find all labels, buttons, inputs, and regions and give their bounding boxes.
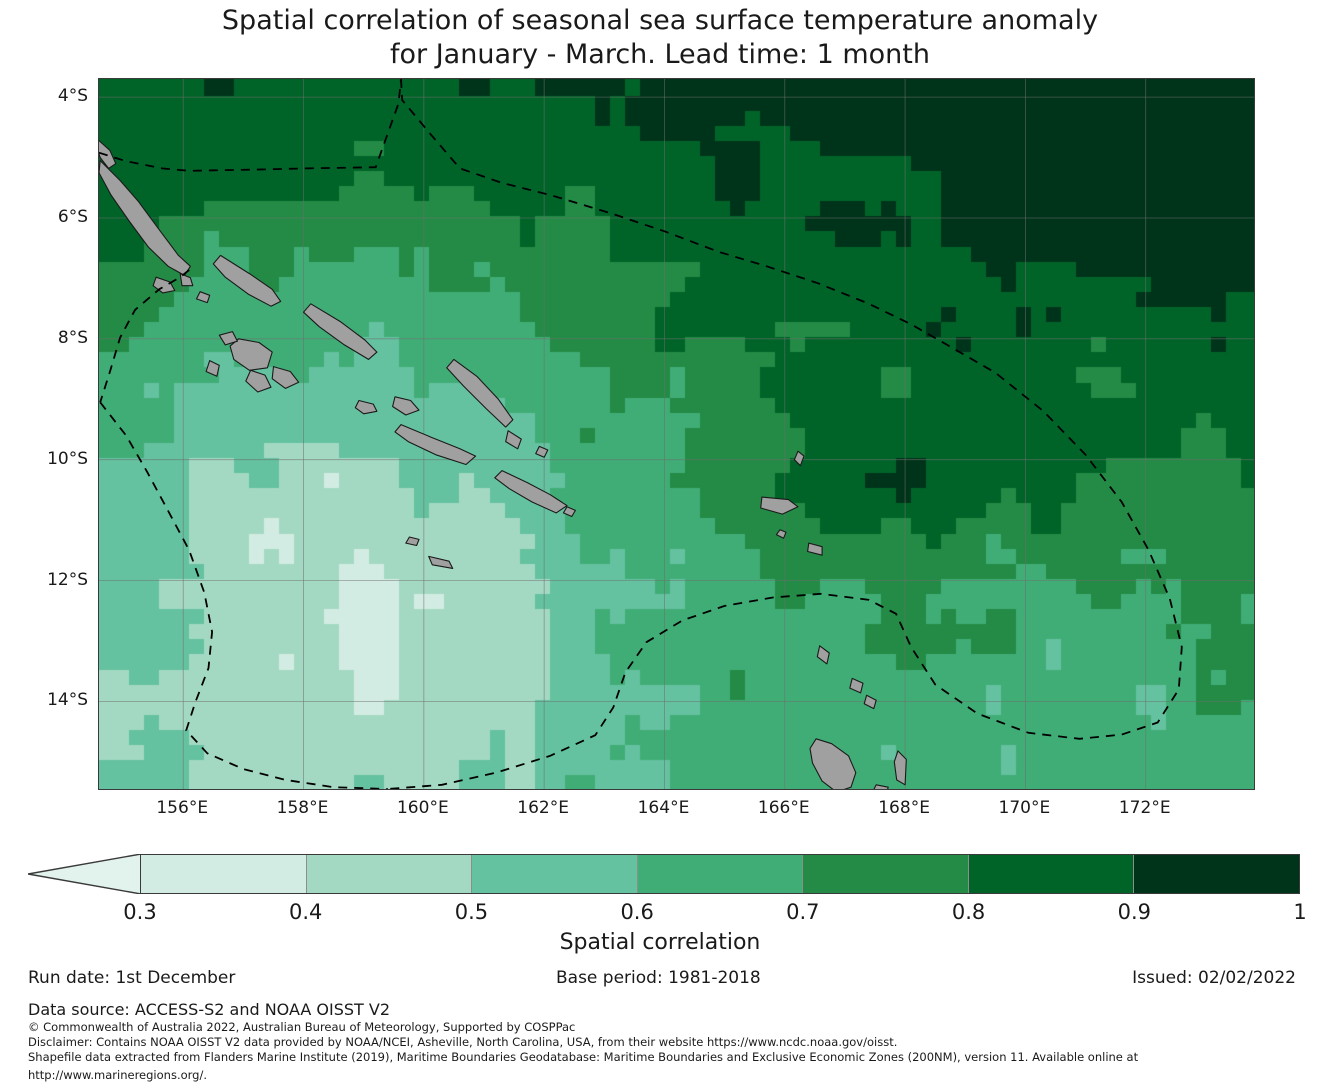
eez-segment-0 bbox=[99, 79, 401, 171]
eez-segment-3 bbox=[100, 402, 388, 789]
colorbar-tick-5: 0.8 bbox=[952, 900, 985, 924]
footer-copyright: © Commonwealth of Australia 2022, Austra… bbox=[28, 1020, 1308, 1035]
land-polygon-16 bbox=[395, 425, 476, 465]
footer-disclaimer: Disclaimer: Contains NOAA OISST V2 data … bbox=[28, 1035, 1308, 1050]
land-polygon-27 bbox=[850, 678, 863, 693]
eez-boundary-line bbox=[99, 79, 1182, 789]
colorbar-tick-7: 1 bbox=[1293, 900, 1306, 924]
land-polygon-18 bbox=[429, 556, 453, 568]
colorbar: 0.30.40.50.60.70.80.91 Spatial correlati… bbox=[0, 846, 1320, 956]
land-polygon-12 bbox=[355, 401, 377, 414]
land-polygon-29 bbox=[810, 739, 856, 789]
map-gridlines bbox=[99, 79, 1254, 789]
map-plot-area bbox=[98, 78, 1255, 790]
land-polygon-10 bbox=[206, 361, 219, 377]
lon-tick-2: 160°E bbox=[397, 798, 449, 818]
colorbar-band-5 bbox=[969, 855, 1135, 893]
footer-shapefile: Shapefile data extracted from Flanders M… bbox=[28, 1050, 1308, 1065]
colorbar-tick-2: 0.5 bbox=[455, 900, 488, 924]
lat-tick-5: 14°S bbox=[47, 690, 88, 710]
lon-tick-7: 170°E bbox=[999, 798, 1051, 818]
land-polygon-34 bbox=[873, 785, 889, 789]
colorbar-tick-1: 0.4 bbox=[289, 900, 322, 924]
colorbar-tick-3: 0.6 bbox=[620, 900, 653, 924]
metadata-row: Run date: 1st December Base period: 1981… bbox=[0, 968, 1320, 994]
land-polygon-6 bbox=[230, 339, 272, 371]
land-polygon-11 bbox=[304, 304, 377, 360]
colorbar-band-0 bbox=[141, 855, 307, 893]
colorbar-band-3 bbox=[638, 855, 804, 893]
land-polygon-26 bbox=[817, 646, 829, 664]
land-polygon-19 bbox=[406, 537, 419, 546]
page-title: Spatial correlation of seasonal sea surf… bbox=[0, 4, 1320, 72]
colorbar-bands bbox=[140, 854, 1300, 894]
land-polygon-22 bbox=[761, 497, 798, 514]
land-polygon-8 bbox=[272, 367, 299, 389]
colorbar-tick-0: 0.3 bbox=[123, 900, 156, 924]
land-polygon-25 bbox=[794, 451, 804, 466]
land-polygon-17 bbox=[495, 471, 567, 513]
land-polygon-20 bbox=[536, 446, 548, 457]
lat-tick-4: 12°S bbox=[47, 570, 88, 590]
land-polygon-28 bbox=[864, 695, 876, 708]
colorbar-band-6 bbox=[1134, 855, 1299, 893]
base-period: Base period: 1981-2018 bbox=[556, 968, 761, 988]
colorbar-label: Spatial correlation bbox=[0, 930, 1320, 955]
colorbar-band-2 bbox=[472, 855, 638, 893]
title-line-1: Spatial correlation of seasonal sea surf… bbox=[0, 4, 1320, 38]
lat-tick-2: 8°S bbox=[58, 328, 88, 348]
lon-tick-1: 158°E bbox=[277, 798, 329, 818]
footer-link: http://www.marineregions.org/. bbox=[28, 1065, 1308, 1083]
land-polygon-14 bbox=[447, 359, 513, 427]
title-line-2: for January - March. Lead time: 1 month bbox=[0, 38, 1320, 72]
lon-tick-8: 172°E bbox=[1119, 798, 1171, 818]
colorbar-tick-6: 0.9 bbox=[1118, 900, 1151, 924]
colorbar-band-4 bbox=[803, 855, 969, 893]
lon-tick-6: 168°E bbox=[878, 798, 930, 818]
lon-tick-0: 156°E bbox=[156, 798, 208, 818]
lon-tick-4: 164°E bbox=[638, 798, 690, 818]
land-polygon-13 bbox=[393, 397, 419, 415]
land-polygon-21 bbox=[563, 507, 575, 517]
lon-tick-5: 166°E bbox=[758, 798, 810, 818]
land-polygon-5 bbox=[213, 255, 280, 306]
colorbar-tick-4: 0.7 bbox=[786, 900, 819, 924]
issued-date: Issued: 02/02/2022 bbox=[1132, 968, 1296, 988]
land-polygon-4 bbox=[197, 292, 210, 303]
footer-data-source: Data source: ACCESS-S2 and NOAA OISST V2 bbox=[28, 1000, 1308, 1020]
land-polygon-24 bbox=[776, 530, 786, 538]
land-polygon-32 bbox=[894, 751, 906, 785]
eez-segment-2 bbox=[100, 270, 189, 402]
lon-tick-3: 162°E bbox=[517, 798, 569, 818]
lat-tick-1: 6°S bbox=[58, 207, 88, 227]
lat-tick-0: 4°S bbox=[58, 86, 88, 106]
footer: Data source: ACCESS-S2 and NOAA OISST V2… bbox=[28, 1000, 1308, 1083]
land-polygon-15 bbox=[506, 431, 522, 449]
lat-tick-3: 10°S bbox=[47, 449, 88, 469]
land-polygons bbox=[99, 141, 921, 789]
land-polygon-7 bbox=[246, 370, 271, 392]
land-polygon-23 bbox=[808, 543, 823, 555]
colorbar-band-1 bbox=[307, 855, 473, 893]
colorbar-under-arrow bbox=[28, 854, 141, 894]
map-vector-overlay bbox=[99, 79, 1254, 789]
run-date: Run date: 1st December bbox=[28, 968, 235, 988]
